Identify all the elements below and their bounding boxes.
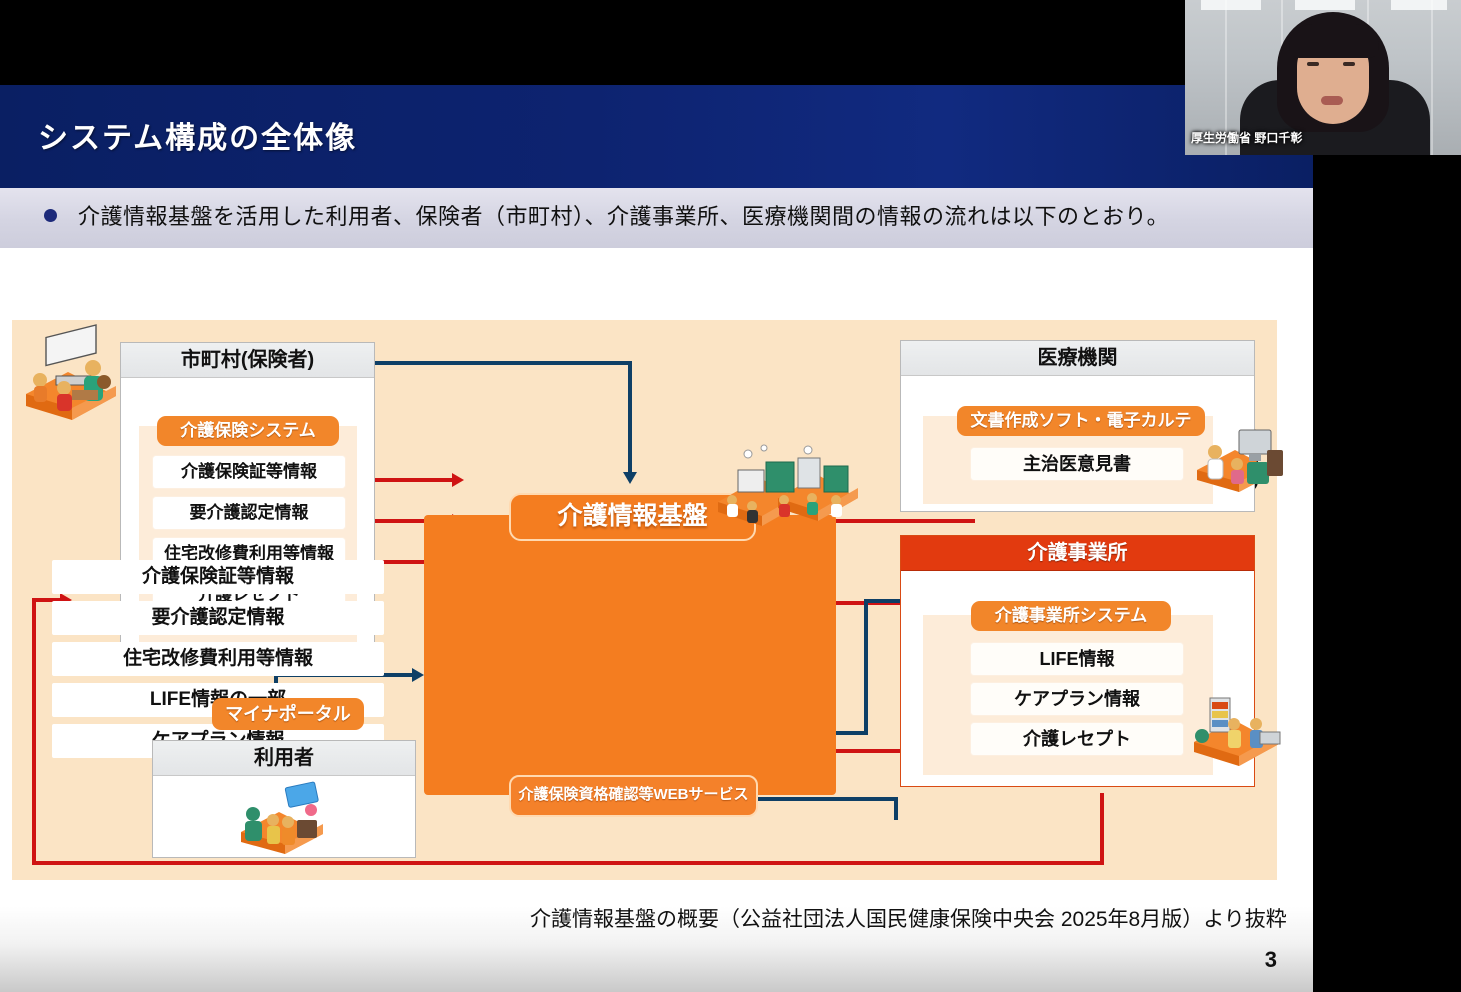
arrow-provider-view-v1: [894, 800, 898, 820]
wall-panel-line-4: [1431, 0, 1433, 155]
care-provider-row-0: LIFE情報: [971, 643, 1183, 675]
arrow-medical-view-v1: [864, 599, 868, 735]
municipality-title: 市町村(保険者): [121, 343, 374, 378]
arrow-muni-row1-head: [452, 473, 464, 487]
platform-row-0: 介護保険証等情報: [52, 560, 384, 594]
slide-footer: 介護情報基盤の概要（公益社団法人国民健康保険中央会 2025年8月版）より抜粋 …: [0, 885, 1313, 992]
arrow-muni-to-platform-head: [623, 472, 637, 484]
medical-row-0: 主治医意見書: [971, 448, 1183, 480]
speaker-eye-left: [1307, 62, 1319, 66]
arrow-provider-receipt-h: [32, 861, 1104, 865]
page-title: システム構成の全体像: [38, 113, 357, 157]
platform-illustration: [712, 442, 862, 542]
speaker-mouth: [1321, 96, 1343, 105]
webcam-video-tile[interactable]: 厚生労働省 野口千彰: [1185, 0, 1461, 155]
source-note: 介護情報基盤の概要（公益社団法人国民健康保険中央会 2025年8月版）より抜粋: [530, 903, 1287, 933]
municipality-system-pill: 介護保険システム: [157, 416, 339, 446]
care-provider-title: 介護事業所: [901, 536, 1254, 571]
speaker-name-label: 厚生労働省 野口千彰: [1191, 129, 1302, 146]
municipality-row-0: 介護保険証等情報: [153, 456, 345, 488]
user-title: 利用者: [153, 741, 415, 776]
speaker-eye-right: [1343, 62, 1355, 66]
bullet-dot-icon: [44, 209, 57, 222]
medical-illustration: [1187, 410, 1287, 500]
municipality-row-1: 要介護認定情報: [153, 497, 345, 529]
slide-bullet-text: 介護情報基盤を活用した利用者、保険者（市町村）、介護事業所、医療機関間の情報の流…: [78, 199, 1169, 231]
speaker-fringe: [1289, 24, 1379, 58]
page-number: 3: [1265, 947, 1277, 973]
arrow-provider-receipt-v2: [32, 598, 36, 865]
medical-title: 医療機関: [901, 341, 1254, 376]
slide-header-bar: システム構成の全体像: [0, 85, 1313, 188]
care-provider-row-1: ケアプラン情報: [971, 683, 1183, 715]
user-box: 利用者: [152, 740, 416, 858]
platform-web-service-pill: 介護保険資格確認等WEBサービス: [509, 775, 758, 817]
arrow-provider-receipt-v1: [1100, 793, 1104, 865]
ceiling-light-2-icon: [1295, 0, 1355, 10]
mynaportal-pill: マイナポータル: [212, 698, 364, 730]
user-illustration: [231, 780, 339, 858]
arrow-muni-to-platform-h: [374, 361, 632, 365]
screen: システム構成の全体像 介護情報基盤を活用した利用者、保険者（市町村）、介護事業所…: [0, 0, 1461, 992]
ceiling-light-3-icon: [1391, 0, 1447, 10]
arrow-muni-to-platform-v: [628, 361, 632, 473]
platform-panel: [424, 515, 836, 795]
medical-system-pill: 文書作成ソフト・電子カルテ: [957, 406, 1205, 436]
slide-bullet-band: 介護情報基盤を活用した利用者、保険者（市町村）、介護事業所、医療機関間の情報の流…: [0, 188, 1313, 248]
municipality-illustration: [12, 320, 127, 425]
system-diagram: 情報の登録 情報の閲覧: [12, 320, 1277, 880]
platform-row-1: 要介護認定情報: [52, 601, 384, 635]
care-provider-system-pill: 介護事業所システム: [971, 601, 1171, 631]
arrow-portal-head: [412, 668, 424, 682]
ceiling-light-1-icon: [1201, 0, 1261, 10]
platform-row-2: 住宅改修費利用等情報: [52, 642, 384, 676]
care-provider-illustration: [1184, 680, 1289, 775]
presentation-slide: システム構成の全体像 介護情報基盤を活用した利用者、保険者（市町村）、介護事業所…: [0, 85, 1313, 992]
care-provider-row-2: 介護レセプト: [971, 723, 1183, 755]
